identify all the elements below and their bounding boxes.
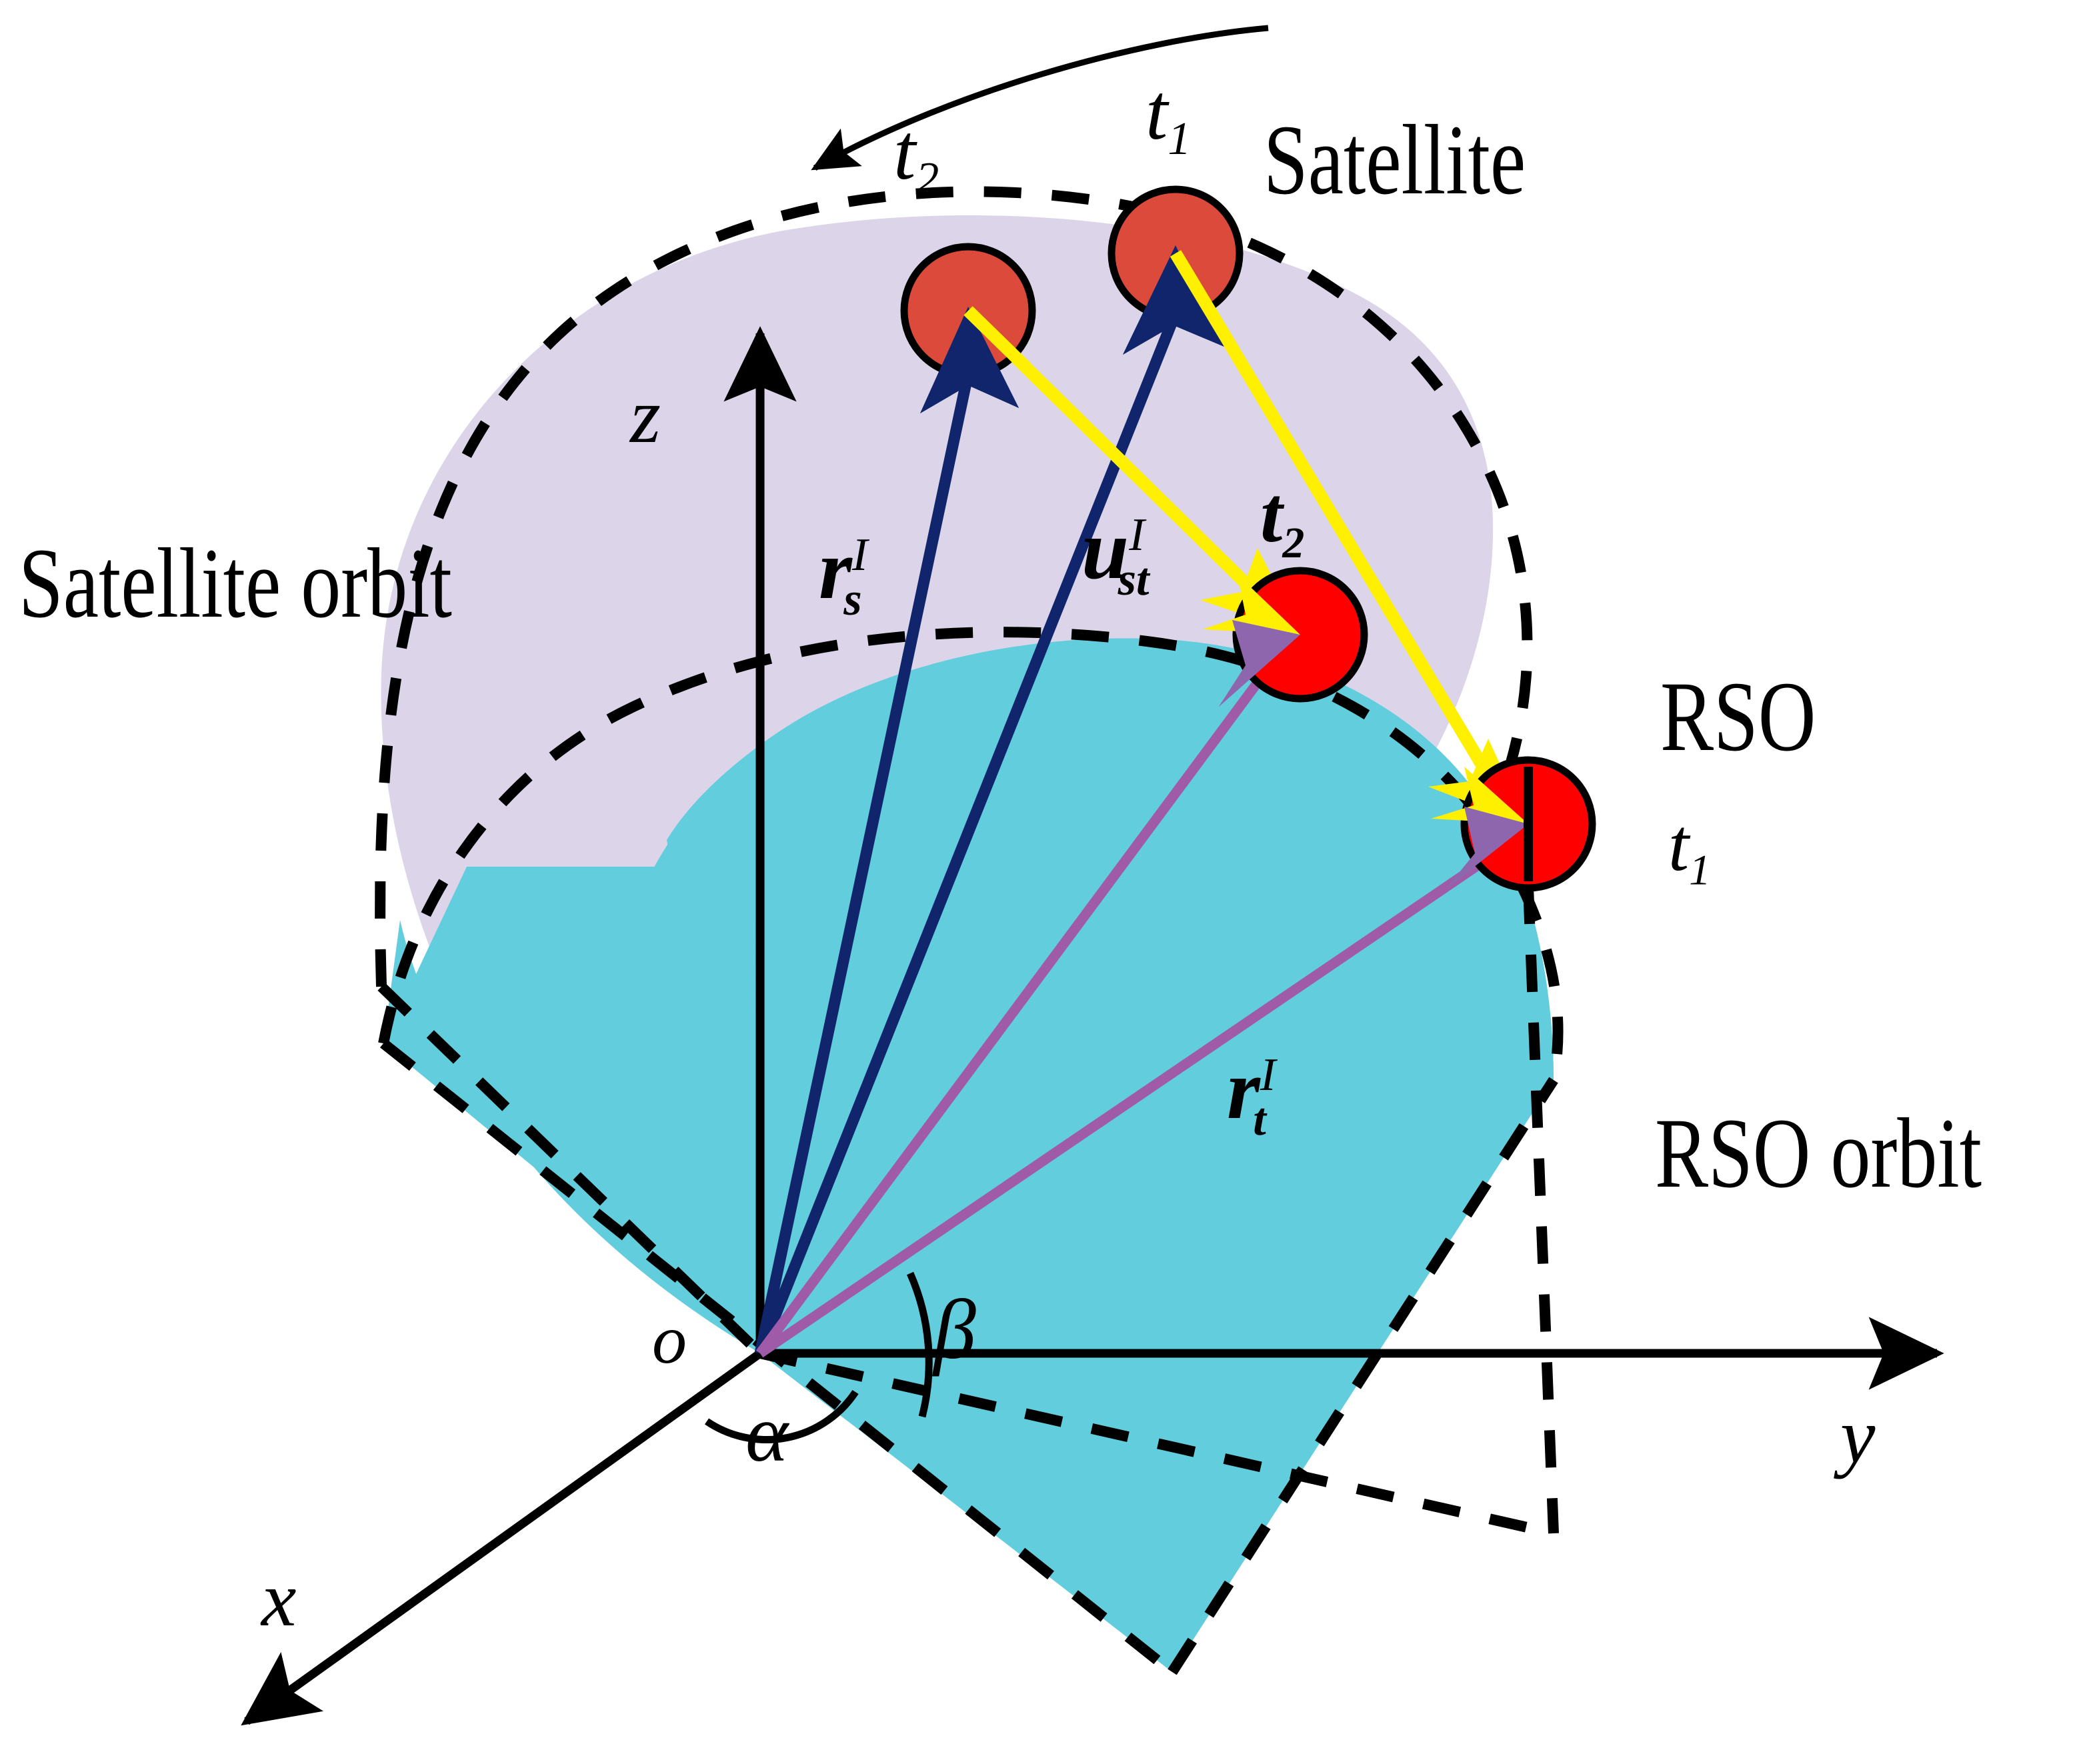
x-axis-label: x <box>261 1560 296 1639</box>
diagram-svg <box>0 0 2099 1764</box>
epoch-label-t1-satellite: t1 <box>1146 72 1191 163</box>
alpha-angle-label: α <box>745 1393 788 1475</box>
origin-label: o <box>652 1305 687 1375</box>
rso-label: RSO <box>1660 667 1816 767</box>
vector-label-rt: rIt <box>1227 1047 1266 1143</box>
epoch-label-t2-rso: t2 <box>1260 475 1304 565</box>
satellite-label: Satellite <box>1264 110 1526 210</box>
satellite-orbit-label: Satellite orbit <box>19 533 452 633</box>
vector-label-rs: rIs <box>819 527 862 623</box>
rso-orbit-label: RSO orbit <box>1655 1103 1982 1203</box>
beta-angle-label: β <box>933 1287 976 1372</box>
rso-wedge-seam <box>383 867 760 1353</box>
orbit-direction-arrow <box>815 28 1268 168</box>
x-axis <box>247 1353 760 1721</box>
z-axis-label: z <box>630 377 661 455</box>
y-axis-label: y <box>1840 1397 1875 1475</box>
vector-label-ust: uIst <box>1082 507 1150 603</box>
epoch-label-t2-satellite: t2 <box>893 112 939 203</box>
epoch-label-t1-rso: t1 <box>1668 808 1711 892</box>
figure-canvas: Satellite Satellite orbit RSO RSO orbit … <box>0 0 2099 1764</box>
